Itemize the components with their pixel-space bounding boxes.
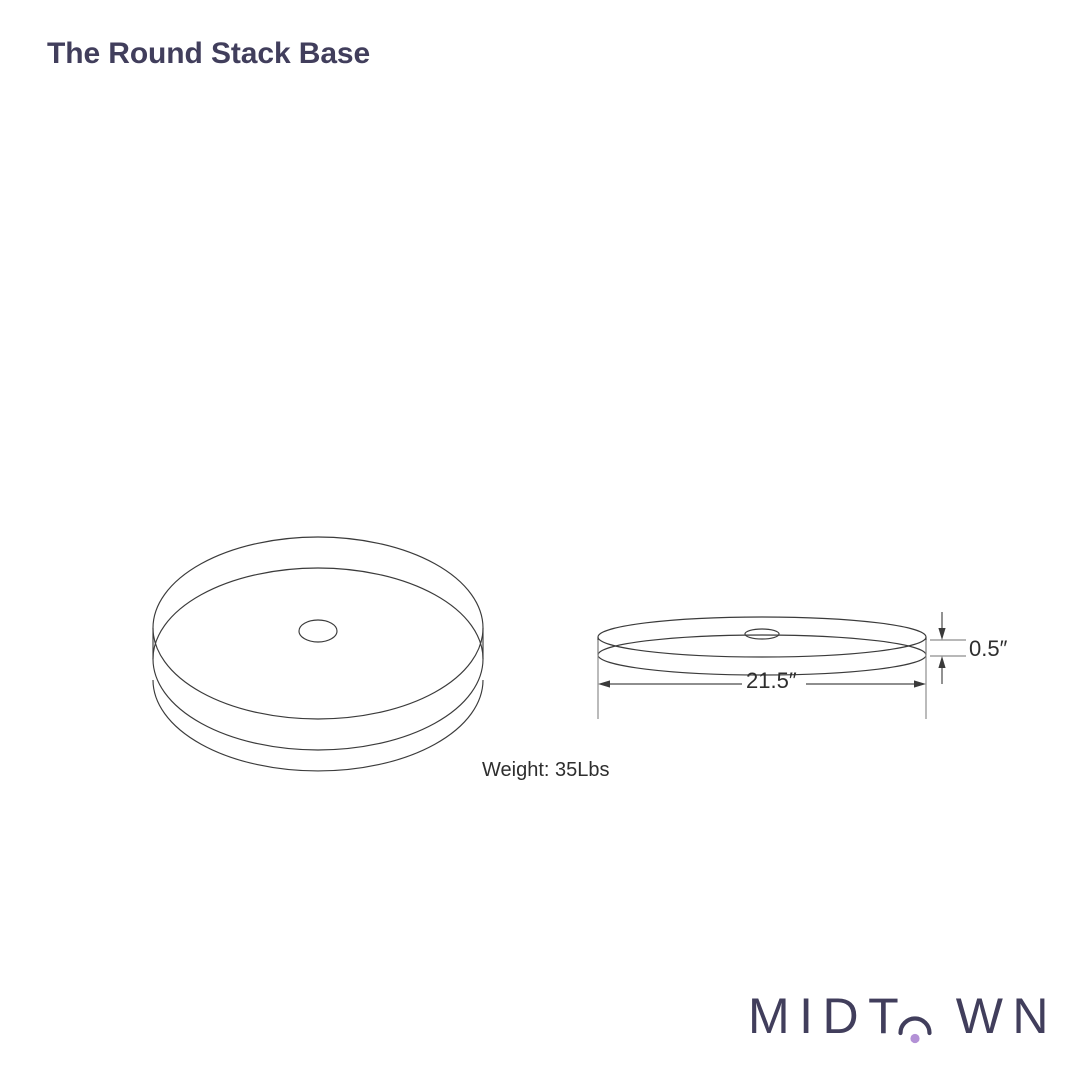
iso-bottom-outer-arc — [153, 680, 483, 771]
iso-bottom-face-ellipse — [153, 568, 483, 750]
brand-o-arc — [901, 1019, 930, 1034]
height-dimension — [930, 612, 966, 684]
brand-o-arc-dot-icon — [895, 1001, 935, 1046]
iso-center-hole — [299, 620, 337, 642]
brand-wordmark-part-1: MIDT — [748, 988, 907, 1044]
elev-top-face-ellipse — [598, 617, 926, 657]
isometric-disc-view — [153, 537, 483, 771]
elev-center-hole — [745, 629, 779, 639]
brand-logo: MIDTOWN — [748, 988, 1048, 1050]
iso-top-face-ellipse — [153, 537, 483, 719]
width-arrow-left — [598, 680, 610, 687]
brand-wordmark-part-2: WN — [956, 988, 1058, 1044]
side-elevation-view — [598, 617, 926, 675]
spec-sheet-page: The Round Stack Base — [0, 0, 1080, 1080]
height-arrow-top — [938, 628, 945, 640]
page-title: The Round Stack Base — [47, 33, 370, 75]
width-dimension-label: 21.5″ — [746, 670, 797, 692]
brand-o-dot — [910, 1034, 919, 1043]
width-arrow-right — [914, 680, 926, 687]
height-dimension-label: 0.5″ — [969, 638, 1007, 660]
height-arrow-bottom — [938, 656, 945, 668]
weight-spec-label: Weight: 35Lbs — [482, 760, 610, 780]
technical-drawing — [0, 0, 1080, 1080]
